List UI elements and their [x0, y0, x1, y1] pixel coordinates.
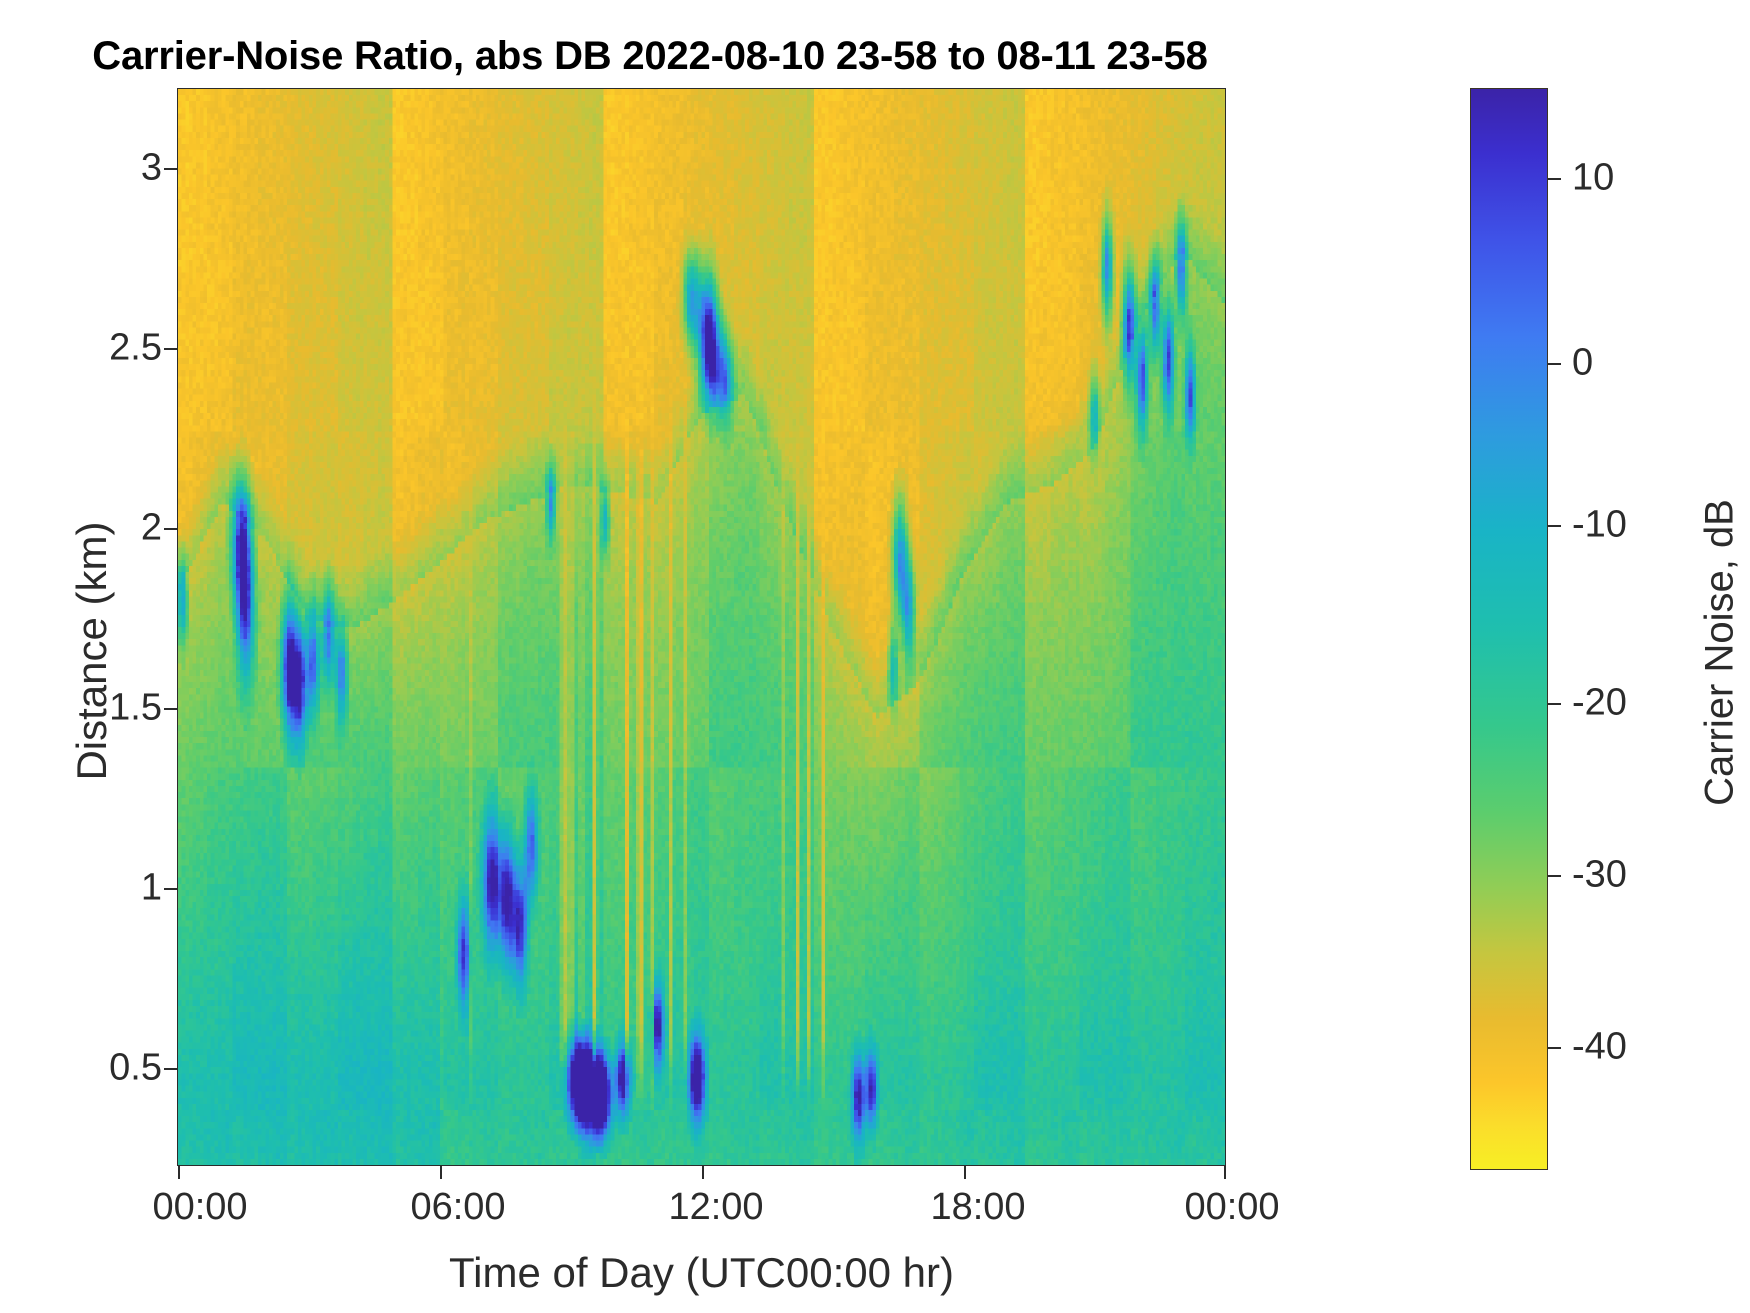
xtick-mark-0600: [440, 1166, 442, 1179]
ytick-mark-2.5: [164, 348, 177, 350]
colorbar-tick-mark-m10: [1548, 525, 1561, 527]
colorbar-tick-mark-10: [1548, 178, 1561, 180]
ytick-label-2: 2: [141, 507, 162, 550]
colorbar-tick-label-m40: -40: [1572, 1026, 1627, 1069]
colorbar-tick-label-m10: -10: [1572, 504, 1627, 547]
xtick-label-0600: 06:00: [410, 1186, 505, 1229]
xtick-label-2400: 00:00: [1184, 1186, 1279, 1229]
colorbar-tick-label-m20: -20: [1572, 682, 1627, 725]
colorbar-tick-mark-m20: [1548, 703, 1561, 705]
xtick-mark-1200: [702, 1166, 704, 1179]
xtick-mark-1800: [964, 1166, 966, 1179]
ytick-mark-2: [164, 528, 177, 530]
x-axis-title: Time of Day (UTC00:00 hr): [177, 1249, 1226, 1297]
ytick-label-1.5: 1.5: [109, 687, 162, 730]
colorbar-tick-mark-m30: [1548, 875, 1561, 877]
ytick-label-1: 1: [141, 867, 162, 910]
page-title: Carrier-Noise Ratio, abs DB 2022-08-10 2…: [0, 34, 1300, 79]
ytick-label-0.5: 0.5: [109, 1047, 162, 1090]
ytick-mark-0.5: [164, 1068, 177, 1070]
ytick-mark-3: [164, 168, 177, 170]
heatmap-axes[interactable]: [177, 88, 1226, 1166]
xtick-label-1800: 18:00: [930, 1186, 1025, 1229]
ytick-label-3: 3: [141, 147, 162, 190]
ytick-label-2.5: 2.5: [109, 327, 162, 370]
ytick-mark-1: [164, 888, 177, 890]
colorbar[interactable]: [1470, 88, 1548, 1170]
colorbar-tick-label-10: 10: [1572, 157, 1614, 200]
xtick-label-1200: 12:00: [668, 1186, 763, 1229]
colorbar-tick-mark-m40: [1548, 1047, 1561, 1049]
xtick-label-0000: 00:00: [152, 1186, 247, 1229]
xtick-mark-0000: [178, 1166, 180, 1179]
colorbar-tick-label-m30: -30: [1572, 854, 1627, 897]
colorbar-title: Carrier Noise, dB: [1698, 373, 1743, 933]
heatmap-image: [178, 89, 1225, 1165]
ytick-mark-1.5: [164, 708, 177, 710]
y-axis-title: Distance (km): [68, 391, 116, 911]
xtick-mark-2400: [1224, 1166, 1226, 1179]
colorbar-tick-mark-0: [1548, 363, 1561, 365]
colorbar-tick-label-0: 0: [1572, 342, 1593, 385]
